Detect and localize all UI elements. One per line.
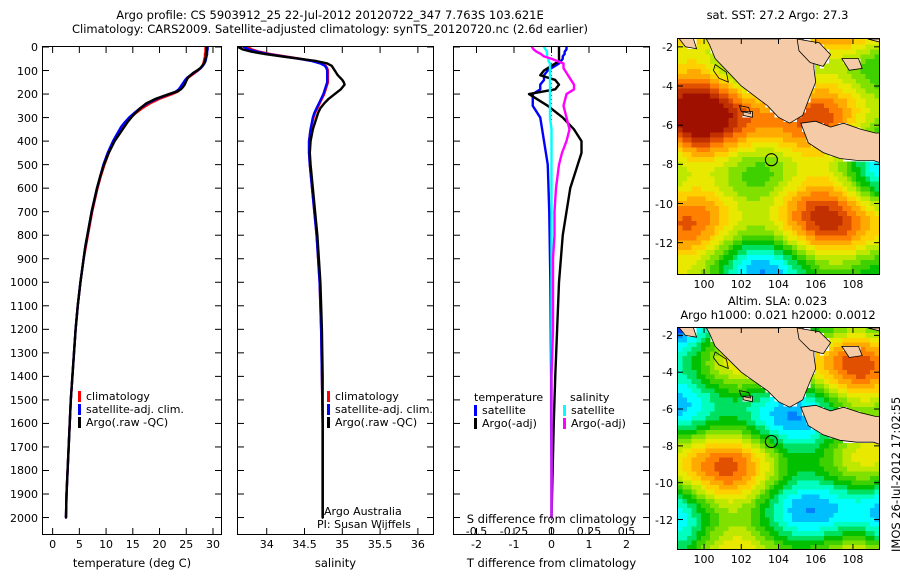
sla-map-title-line1: Altim. SLA: 0.023 [670,294,885,308]
legend-item: Argo(-adj) [474,417,537,430]
legend-swatch-icon [78,391,81,402]
legend-label: satellite-adj. clim. [335,403,433,416]
sst-map-area [678,39,879,274]
legend-item: Argo(.raw -QC) [327,416,433,429]
legend-swatch-icon [327,417,330,428]
temperature-legend: climatologysatellite-adj. clim.Argo(.raw… [78,390,184,429]
legend-label: satellite [571,404,615,417]
difference-legend-temperature-heading: temperature [474,391,543,404]
legend-swatch-icon [563,418,566,429]
legend-item: satellite [474,404,537,417]
legend-label: climatology [86,390,150,403]
legend-item: Argo(-adj) [563,417,626,430]
difference-s-axis-label: S difference from climatology [453,512,650,526]
legend-item: satellite-adj. clim. [327,403,433,416]
legend-swatch-icon [474,418,477,429]
salinity-legend: climatologysatellite-adj. clim.Argo(.raw… [327,390,433,429]
salinity-credit-line2: PI: Susan Wijffels [317,518,411,531]
legend-label: Argo(.raw -QC) [335,416,417,429]
legend-swatch-icon [327,404,330,415]
legend-label: satellite-adj. clim. [86,403,184,416]
legend-item: satellite [563,404,626,417]
difference-legend-temperature: satelliteArgo(-adj) [474,404,537,430]
sla-map-title-line2: Argo h1000: 0.021 h2000: 0.0012 [662,308,894,322]
legend-item: climatology [78,390,184,403]
legend-swatch-icon [563,405,566,416]
salinity-credit-line1: Argo Australia [324,505,402,518]
sst-map [677,38,880,275]
legend-item: climatology [327,390,433,403]
legend-swatch-icon [327,391,330,402]
sla-map-area [678,328,879,549]
difference-plot-area [454,47,649,534]
temperature-plot-area [43,47,221,534]
difference-panel [453,46,650,535]
temperature-panel [42,46,222,535]
legend-label: Argo(.raw -QC) [86,416,168,429]
legend-label: climatology [335,390,399,403]
legend-item: Argo(.raw -QC) [78,416,184,429]
salinity-plot-area [238,47,433,534]
figure-title-line1: Argo profile: CS 5903912_25 22-Jul-2012 … [0,8,660,22]
sla-map [677,327,880,550]
temperature-x-axis-label: temperature (deg C) [42,556,222,570]
legend-swatch-icon [78,417,81,428]
difference-legend-salinity-heading: salinity [570,391,609,404]
legend-swatch-icon [78,404,81,415]
legend-label: Argo(-adj) [482,417,537,430]
salinity-x-axis-label: salinity [237,556,434,570]
salinity-panel [237,46,434,535]
legend-label: satellite [482,404,526,417]
difference-legend-salinity: satelliteArgo(-adj) [563,404,626,430]
figure-title-line2: Climatology: CARS2009. Satellite-adjuste… [0,22,660,36]
legend-swatch-icon [474,405,477,416]
sst-map-title: sat. SST: 27.2 Argo: 27.3 [670,8,885,22]
difference-t-axis-label: T difference from climatology [453,556,650,570]
imos-timestamp: IMOS 26-Jul-2012 17:02:55 [889,397,900,552]
figure-canvas: Argo profile: CS 5903912_25 22-Jul-2012 … [0,0,900,580]
legend-label: Argo(-adj) [571,417,626,430]
legend-item: satellite-adj. clim. [78,403,184,416]
